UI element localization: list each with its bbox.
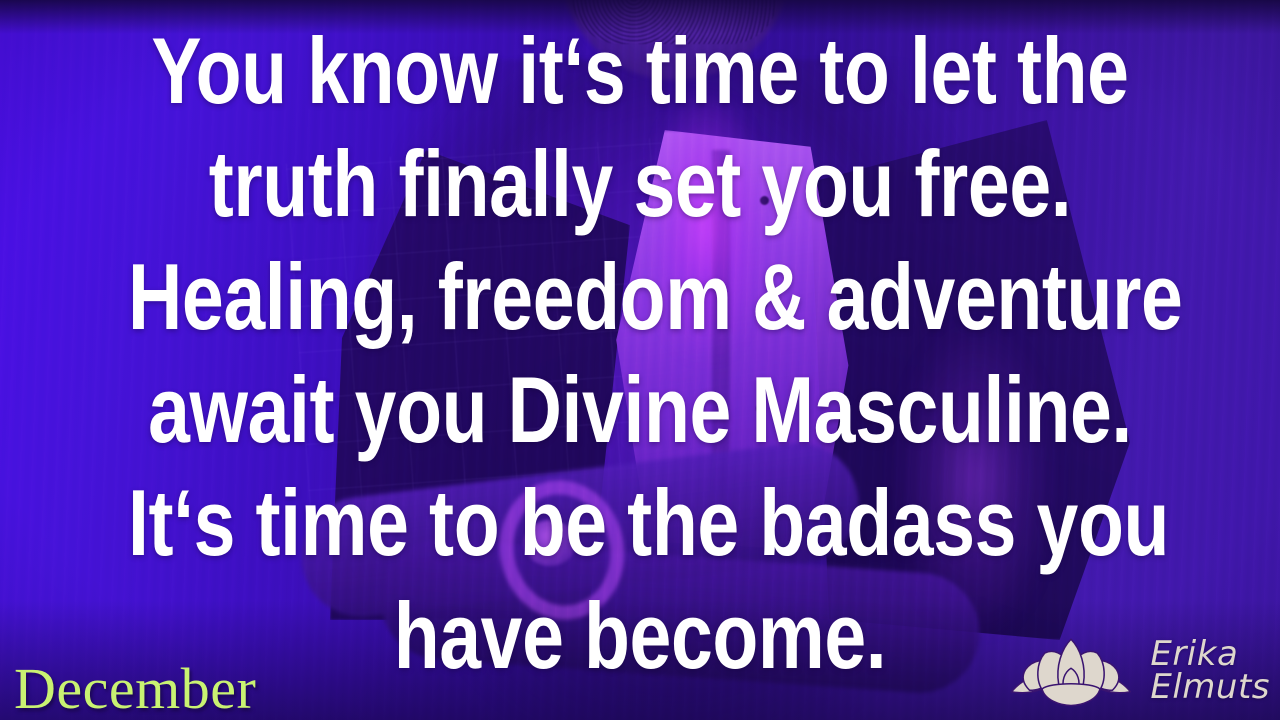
month-label: December [14, 660, 256, 718]
brand-name: Erika Elmuts [1150, 638, 1270, 705]
brand-lockup: Erika Elmuts [1002, 628, 1270, 714]
quote-line-4: await you Divine Masculine. [128, 353, 1152, 466]
quote-text-block: You know it‘s time to let the truth fina… [128, 14, 1152, 692]
quote-line-2: truth finally set you free. [128, 127, 1152, 240]
quote-line-3: Healing, freedom & adventure [128, 240, 1152, 353]
quote-graphic-canvas: You know it‘s time to let the truth fina… [0, 0, 1280, 720]
brand-name-line-2: Elmuts [1150, 671, 1270, 704]
lotus-flower-icon [1002, 628, 1140, 714]
quote-line-1: You know it‘s time to let the [128, 14, 1152, 127]
quote-line-5: It‘s time to be the badass you [128, 466, 1152, 579]
quote-line-6: have become. [128, 579, 1152, 692]
brand-name-line-1: Erika [1150, 638, 1270, 671]
